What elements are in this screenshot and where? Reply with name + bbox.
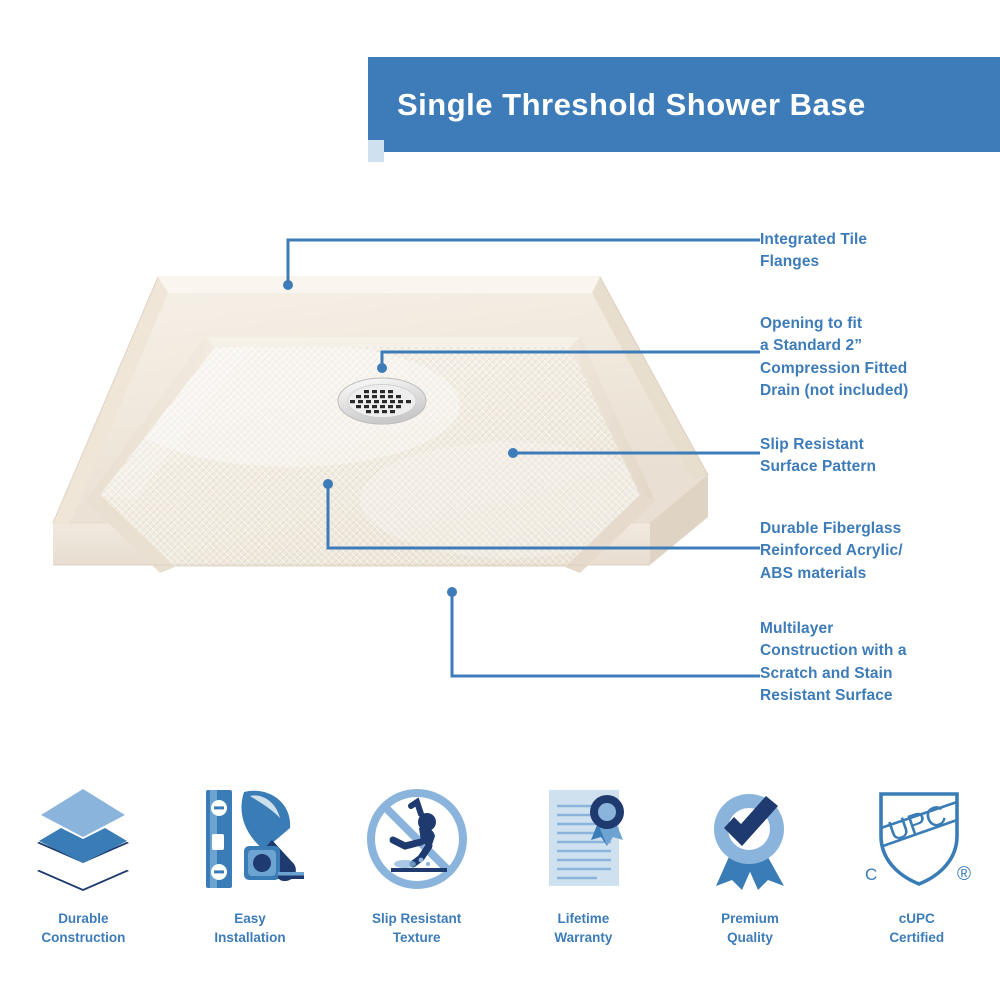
basin-wall-back <box>205 337 580 347</box>
feature-label: Easy Installation <box>214 910 285 948</box>
feature-label: Durable Construction <box>41 910 125 948</box>
tile-flange-back <box>158 277 600 293</box>
callout-multilayer-construction: Multilayer Construction with a Scratch a… <box>760 618 907 708</box>
drain-assembly <box>338 378 426 424</box>
product-illustration <box>40 255 730 610</box>
callout-durable-materials: Durable Fiberglass Reinforced Acrylic/ A… <box>760 518 903 585</box>
callout-integrated-tile-flanges: Integrated Tile Flanges <box>760 229 867 274</box>
feature-label: Lifetime Warranty <box>554 910 612 948</box>
feature-slip-resistant-texture: Slip Resistant Texture <box>333 780 500 980</box>
callout-slip-resistant-surface-pattern: Slip Resistant Surface Pattern <box>760 434 876 479</box>
feature-durable-construction: Durable Construction <box>0 780 167 980</box>
infographic-canvas: Single Threshold Shower Base <box>0 0 1000 1000</box>
callout-drain-opening: Opening to fit a Standard 2” Compression… <box>760 313 908 403</box>
no-slip-icon <box>361 780 473 898</box>
certificate-icon <box>527 780 639 898</box>
level-trowel-icon <box>194 780 306 898</box>
feature-label: Slip Resistant Texture <box>372 910 461 948</box>
upc-text: UPC <box>884 799 950 848</box>
feature-cupc-certified: UPC C ® cUPC Certified <box>833 780 1000 980</box>
feature-strip: Durable Construction <box>0 780 1000 980</box>
feature-easy-installation: Easy Installation <box>167 780 334 980</box>
header-banner: Single Threshold Shower Base <box>368 57 1000 152</box>
feature-lifetime-warranty: Lifetime Warranty <box>500 780 667 980</box>
feature-label: Premium Quality <box>721 910 779 948</box>
header-accent-bar <box>368 140 384 162</box>
ribbon-check-icon <box>694 780 806 898</box>
feature-label: cUPC Certified <box>889 910 944 948</box>
registered-mark: ® <box>957 864 971 885</box>
page-title: Single Threshold Shower Base <box>397 89 866 120</box>
layers-icon <box>27 780 139 898</box>
upc-prefix: C <box>865 865 877 884</box>
upc-shield-icon: UPC C ® <box>857 780 977 898</box>
feature-premium-quality: Premium Quality <box>667 780 834 980</box>
